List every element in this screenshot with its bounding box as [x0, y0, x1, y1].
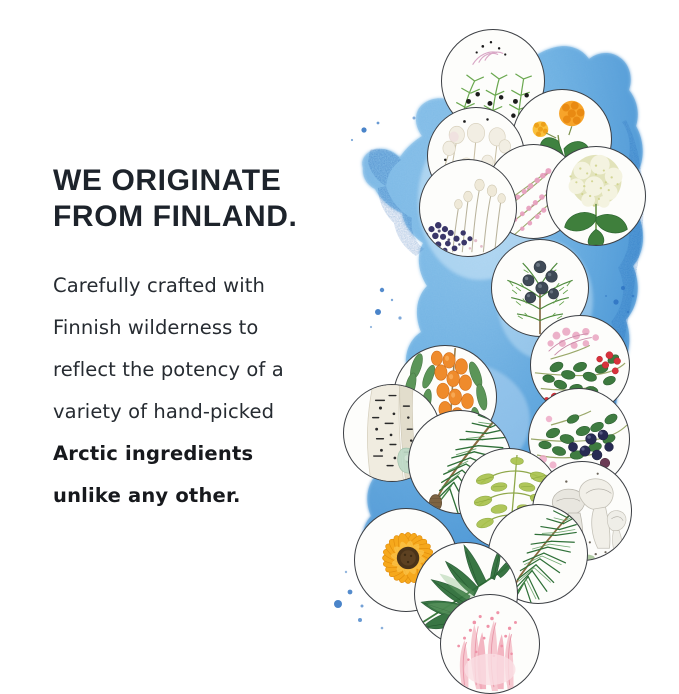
poster-canvas: WE ORIGINATE FROM FINLAND. Carefully cra… [0, 0, 679, 679]
ingredient-circle-willowherb [440, 594, 540, 694]
body-line-4: variety of hand-picked [53, 391, 353, 433]
body-line-2: Finnish wilderness to [53, 307, 353, 349]
body-paragraph: Carefully crafted with Finnish wildernes… [53, 265, 353, 517]
body-line-1: Carefully crafted with [53, 265, 353, 307]
ingredient-circle-layer [330, 0, 679, 679]
body-line-6: unlike any other. [53, 475, 353, 517]
finland-map-illustration [330, 0, 679, 679]
ingredient-circle-elderflower [546, 146, 646, 246]
body-line-5: Arctic ingredients [53, 433, 353, 475]
body-line-3: reflect the potency of a [53, 349, 353, 391]
page-title: WE ORIGINATE FROM FINLAND. [53, 163, 353, 235]
copy-block: WE ORIGINATE FROM FINLAND. Carefully cra… [53, 163, 353, 517]
